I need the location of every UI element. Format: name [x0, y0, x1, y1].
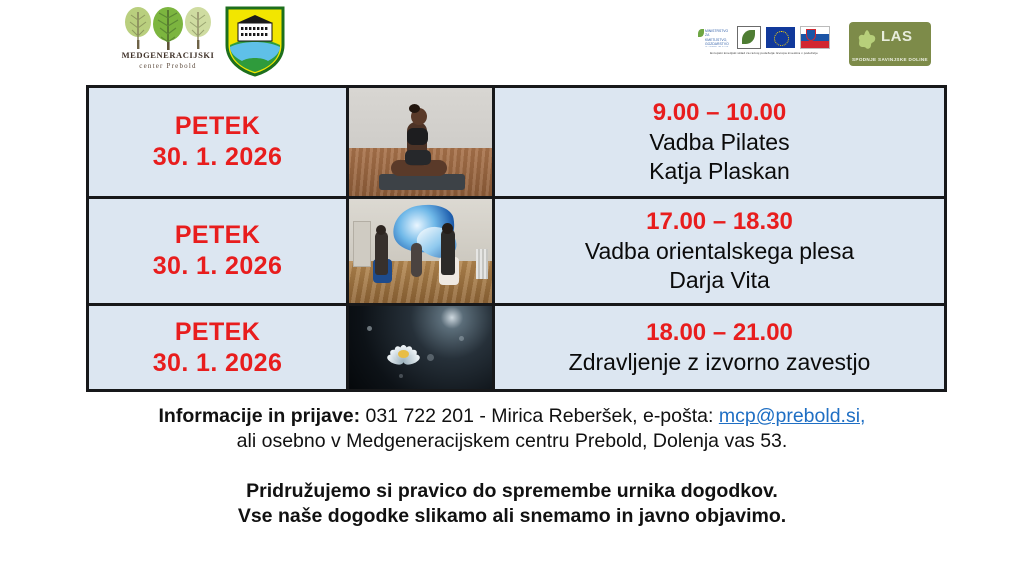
prebold-coat-of-arms-icon — [224, 5, 286, 77]
day-cell: PETEK 30. 1. 2026 — [88, 198, 348, 305]
day-cell: PETEK 30. 1. 2026 — [88, 305, 348, 391]
disclaimer-line-1: Pridružujemo si pravico do spremembe urn… — [0, 479, 1024, 504]
time-label: 9.00 – 10.00 — [495, 98, 944, 128]
program-leaf-icon — [737, 26, 761, 49]
date-label: 30. 1. 2026 — [89, 142, 346, 173]
date-label: 30. 1. 2026 — [89, 348, 346, 379]
day-label: PETEK — [89, 220, 346, 251]
leader-label: Katja Plaskan — [495, 157, 944, 186]
activity-label: Zdravljenje z izvorno zavestjo — [495, 348, 944, 377]
date-label: 30. 1. 2026 — [89, 251, 346, 282]
email-link[interactable]: mcp@prebold.si, — [719, 405, 866, 427]
footer: Informacije in prijave: 031 722 201 - Mi… — [0, 400, 1024, 529]
las-logo: LAS SPODNJE SAVINJSKE DOLINE — [849, 22, 931, 66]
las-leaf-icon — [857, 29, 877, 50]
ministry-logo-icon: MINISTRSTVO ZA KMETIJSTVO, GOZDARSTVO IN… — [698, 27, 732, 47]
eu-funding-caption: Evropski kmetijski sklad za razvoj podež… — [698, 51, 830, 55]
lotus-flower-photo — [349, 306, 492, 389]
table-row: PETEK 30. 1. 2026 9.00 – 10.00 Vadba Pil… — [88, 87, 946, 198]
slovenia-flag-icon — [800, 26, 830, 49]
oriental-dance-photo — [349, 199, 492, 303]
info-cell: 17.00 – 18.30 Vadba orientalskega plesa … — [494, 198, 946, 305]
day-label: PETEK — [89, 111, 346, 142]
table-row: PETEK 30. 1. 2026 17.00 – 18.30 Vadba or… — [88, 198, 946, 305]
contact-details: 031 722 201 - Mirica Reberšek, e-pošta: — [360, 405, 719, 427]
ministry-logo-label: MINISTRSTVO ZA KMETIJSTVO, GOZDARSTVO IN… — [705, 29, 732, 47]
mcp-logo-subtitle: center Prebold — [112, 62, 224, 70]
photo-cell — [348, 198, 494, 305]
las-logo-subtitle: SPODNJE SAVINJSKE DOLINE — [849, 57, 931, 62]
eu-flag-icon — [766, 27, 794, 48]
info-cell: 9.00 – 10.00 Vadba Pilates Katja Plaskan — [494, 87, 946, 198]
activity-label: Vadba Pilates — [495, 128, 944, 157]
info-cell: 18.00 – 21.00 Zdravljenje z izvorno zave… — [494, 305, 946, 391]
pilates-photo — [349, 88, 492, 196]
header-logos-bar: MEDGENERACIJSKI center Prebold — [0, 0, 1024, 85]
activity-label: Vadba orientalskega plesa — [495, 237, 944, 266]
schedule-table: PETEK 30. 1. 2026 9.00 – 10.00 Vadba Pil… — [86, 85, 947, 392]
leader-label: Darja Vita — [495, 266, 944, 295]
las-logo-title: LAS — [881, 28, 913, 45]
mcp-logo-title: MEDGENERACIJSKI — [112, 50, 224, 60]
mcp-logo: MEDGENERACIJSKI center Prebold — [112, 6, 224, 76]
contact-label: Informacije in prijave: — [159, 405, 361, 427]
photo-cell — [348, 305, 494, 391]
time-label: 17.00 – 18.30 — [495, 207, 944, 237]
eu-funding-logos: MINISTRSTVO ZA KMETIJSTVO, GOZDARSTVO IN… — [698, 24, 830, 62]
three-trees-icon — [112, 6, 224, 52]
time-label: 18.00 – 21.00 — [495, 318, 944, 348]
day-cell: PETEK 30. 1. 2026 — [88, 87, 348, 198]
address-line: ali osebno v Medgeneracijskem centru Pre… — [0, 429, 1024, 454]
table-row: PETEK 30. 1. 2026 18.00 – 21.0 — [88, 305, 946, 391]
disclaimer-line-2: Vse naše dogodke slikamo ali snemamo in … — [0, 504, 1024, 529]
contact-line: Informacije in prijave: 031 722 201 - Mi… — [0, 404, 1024, 429]
day-label: PETEK — [89, 317, 346, 348]
photo-cell — [348, 87, 494, 198]
